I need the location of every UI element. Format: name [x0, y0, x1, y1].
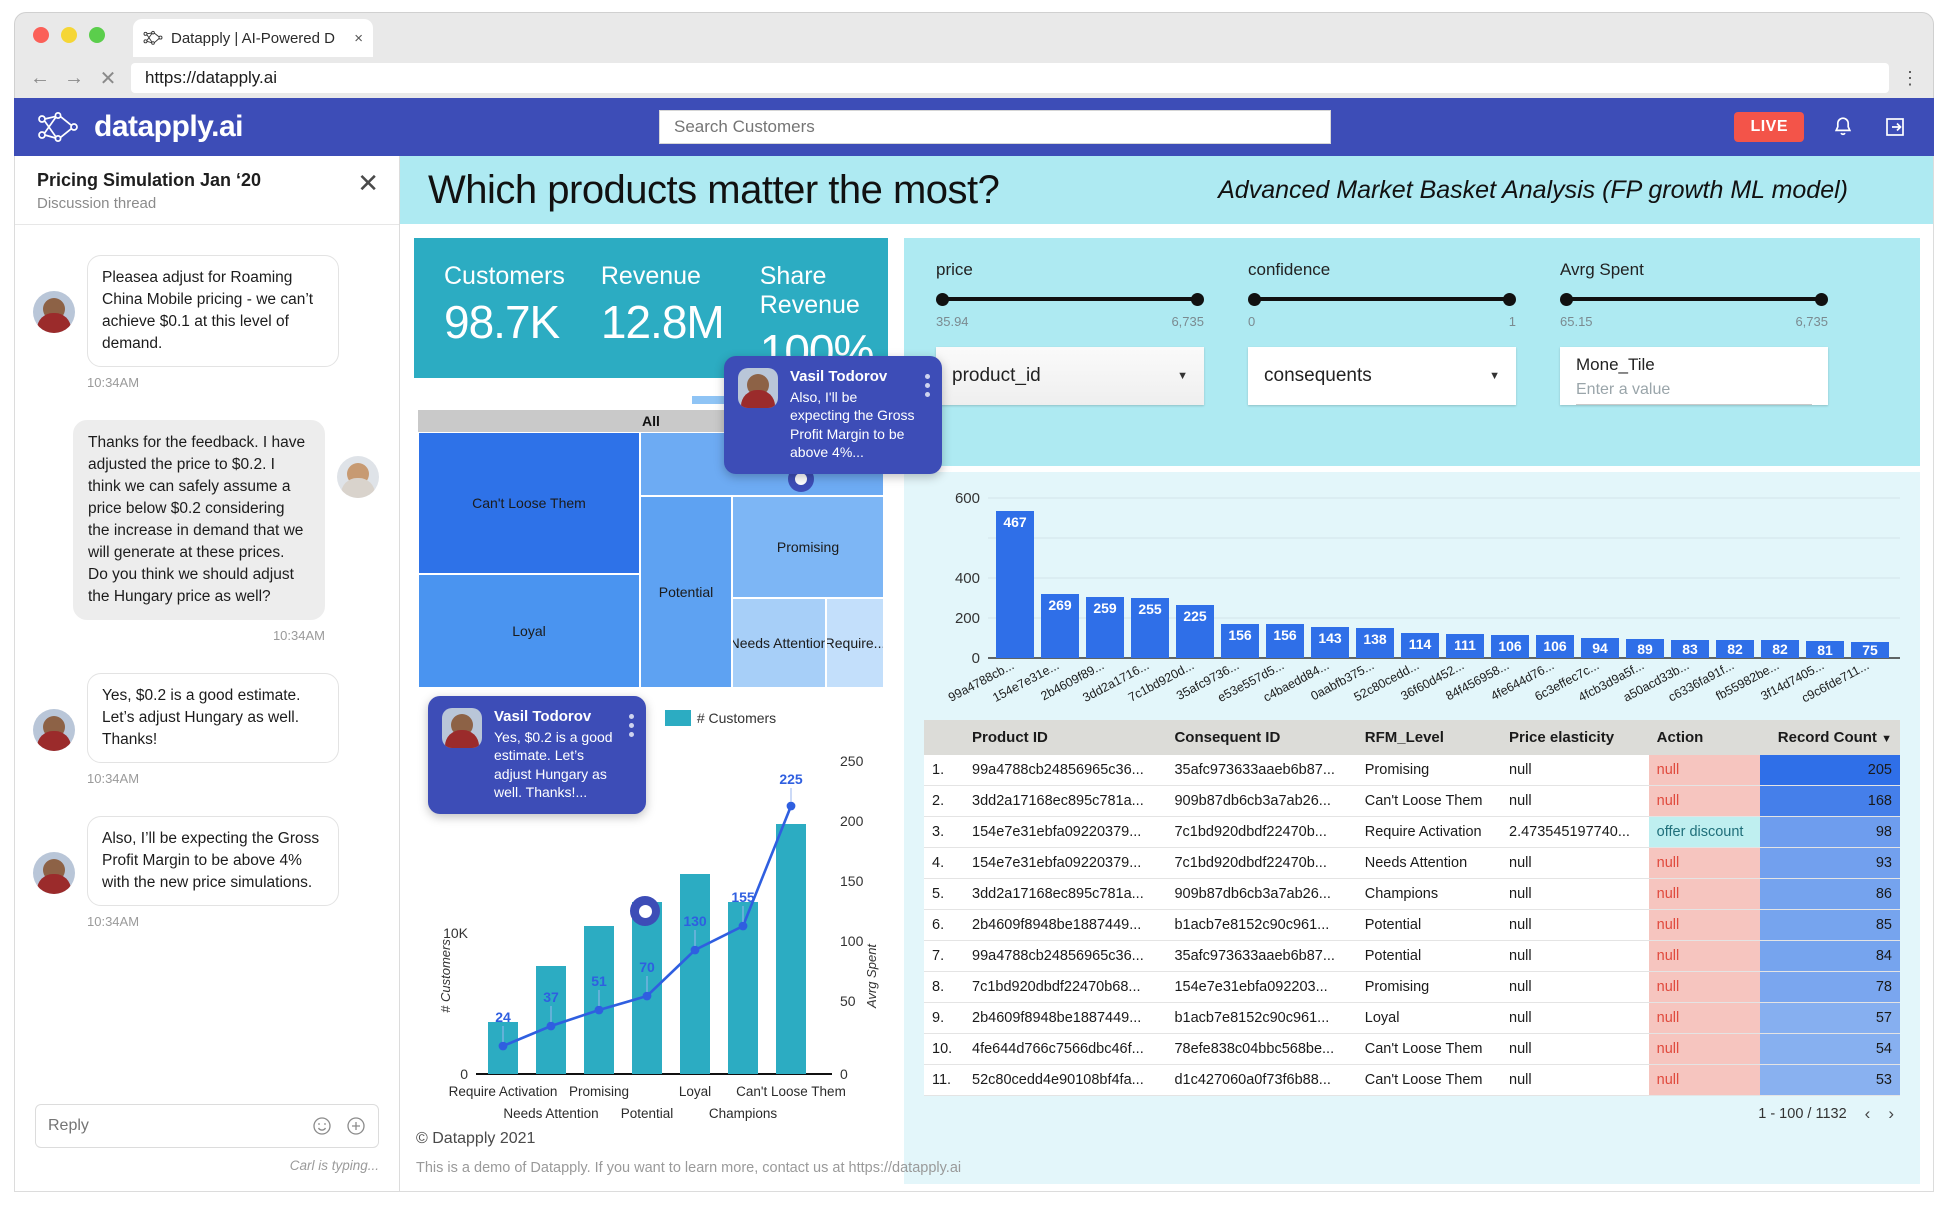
comment-author: Vasil Todorov [494, 708, 622, 725]
legend-swatch [665, 710, 691, 726]
cell-rfm-level: Require Activation [1357, 817, 1501, 848]
svg-text:255: 255 [1138, 601, 1162, 617]
comment-text: Also, I'll be expecting the Gross Profit… [790, 388, 918, 462]
svg-text:114: 114 [1409, 636, 1432, 652]
table-row[interactable]: 1.99a4788cb24856965c36...35afc973633aaeb… [924, 755, 1900, 786]
discussion-title: Pricing Simulation Jan ‘20 [37, 170, 381, 191]
avatar [738, 368, 778, 408]
message-item: Pleasea adjust for Roaming China Mobile … [33, 255, 379, 390]
svg-text:250: 250 [840, 753, 864, 769]
svg-text:Can't Loose Them: Can't Loose Them [736, 1084, 846, 1099]
cell-product-id: 99a4788cb24856965c36... [964, 755, 1166, 786]
cell-price-elasticity: null [1501, 848, 1649, 879]
svg-text:200: 200 [840, 813, 864, 829]
svg-text:143: 143 [1318, 630, 1342, 646]
svg-text:150: 150 [840, 873, 864, 889]
cell-product-id: 3dd2a17168ec895c781a... [964, 786, 1166, 817]
floating-comment-card-2[interactable]: Vasil Todorov Yes, $0.2 is a good estima… [428, 696, 646, 814]
browser-urlbar: ← → ✕ https://datapply.ai ⋮ [15, 57, 1933, 99]
cell-rfm-level: Champions [1357, 879, 1501, 910]
avatar [33, 291, 75, 333]
row-index: 5. [924, 879, 964, 910]
back-icon[interactable]: ← [29, 67, 51, 89]
treemap-tile-potential[interactable]: Potential [640, 496, 732, 688]
filter-avrg-spent: Avrg Spent 65.15 6,735 Mone_Tile Enter a… [1560, 260, 1828, 405]
discussion-panel: Pricing Simulation Jan ‘20 Discussion th… [14, 156, 400, 1192]
table-row[interactable]: 5.3dd2a17168ec895c781a...909b87db6cb3a7a… [924, 879, 1900, 910]
svg-text:82: 82 [1772, 641, 1788, 657]
svg-text:82: 82 [1727, 641, 1743, 657]
row-index: 6. [924, 910, 964, 941]
svg-text:0: 0 [460, 1066, 468, 1082]
cell-consequent-id: 154e7e31ebfa092203... [1166, 972, 1356, 1003]
svg-text:138: 138 [1363, 631, 1387, 647]
cell-consequent-id: 35afc973633aaeb6b87... [1166, 755, 1356, 786]
svg-text:225: 225 [779, 771, 803, 787]
cell-product-id: 2b4609f8948be1887449... [964, 910, 1166, 941]
row-index: 9. [924, 1003, 964, 1034]
cell-action: null [1649, 1065, 1760, 1096]
products-table: Product ID Consequent ID RFM_Level Price… [924, 720, 1900, 1124]
comment-author: Vasil Todorov [790, 368, 918, 385]
cell-price-elasticity: 2.473545197740... [1501, 817, 1649, 848]
table-row[interactable]: 2.3dd2a17168ec895c781a...909b87db6cb3a7a… [924, 786, 1900, 817]
typing-indicator: Carl is typing... [35, 1158, 379, 1173]
table-row[interactable]: 8.7c1bd920dbdf22470b68...154e7e31ebfa092… [924, 972, 1900, 1003]
chevron-down-icon: ▼ [1489, 370, 1500, 382]
svg-text:106: 106 [1498, 638, 1522, 654]
search-input[interactable] [674, 117, 1316, 137]
avatar [337, 456, 379, 498]
cell-record-count: 86 [1760, 879, 1900, 910]
svg-text:155: 155 [731, 889, 755, 905]
row-index: 11. [924, 1065, 964, 1096]
svg-text:81: 81 [1817, 642, 1833, 658]
table-row[interactable]: 10.4fe644d766c7566dbc46f...78efe838c04bb… [924, 1034, 1900, 1065]
cell-action: null [1649, 910, 1760, 941]
search-box[interactable] [659, 110, 1331, 144]
cell-rfm-level: Can't Loose Them [1357, 786, 1501, 817]
datapply-logo-icon [36, 111, 80, 143]
message-time: 10:34AM [87, 771, 339, 786]
comment-options-icon[interactable] [925, 374, 930, 397]
svg-text:0: 0 [972, 650, 980, 667]
message-item: Thanks for the feedback. I have adjusted… [33, 420, 379, 643]
cell-product-id: 52c80cedd4e90108bf4fa... [964, 1065, 1166, 1096]
svg-text:83: 83 [1682, 641, 1698, 657]
cell-record-count: 98 [1760, 817, 1900, 848]
browser-menu-icon[interactable]: ⋮ [1901, 68, 1919, 89]
filter-label: confidence [1248, 260, 1516, 280]
app-header: datapply.ai LIVE [14, 98, 1934, 156]
mone-tile-field[interactable]: Mone_Tile Enter a value [1560, 347, 1828, 405]
browser-tabstrip: Datapply | AI-Powered D × [15, 13, 1933, 57]
svg-text:Require Activation: Require Activation [449, 1084, 558, 1099]
message-text: Also, I’ll be expecting the Gross Profit… [87, 816, 339, 906]
row-index: 3. [924, 817, 964, 848]
svg-text:Loyal: Loyal [679, 1084, 711, 1099]
cell-action: null [1649, 879, 1760, 910]
svg-text:Avrg Spent: Avrg Spent [864, 943, 879, 1009]
cell-consequent-id: d1c427060a0f73f6b88... [1166, 1065, 1356, 1096]
chevron-down-icon: ▼ [1177, 370, 1188, 382]
svg-text:225: 225 [1183, 608, 1207, 624]
svg-text:50: 50 [840, 993, 856, 1009]
table-row[interactable]: 4.154e7e31ebfa09220379...7c1bd920dbdf224… [924, 848, 1900, 879]
cell-price-elasticity: null [1501, 1003, 1649, 1034]
product-id-select[interactable]: product_id ▼ [936, 347, 1204, 405]
slider-max: 1 [1509, 314, 1516, 329]
cell-product-id: 3dd2a17168ec895c781a... [964, 879, 1166, 910]
kpi-value: 98.7K [444, 295, 565, 349]
cell-product-id: 154e7e31ebfa09220379... [964, 817, 1166, 848]
col-price-elasticity[interactable]: Price elasticity [1501, 720, 1649, 755]
products-panel: 600 400 200 0 [904, 472, 1920, 1184]
filter-confidence: confidence 0 1 consequents ▼ [1248, 260, 1516, 405]
cell-product-id: 7c1bd920dbdf22470b68... [964, 972, 1166, 1003]
browser-tab[interactable]: Datapply | AI-Powered D × [133, 19, 373, 57]
brand-name: datapply.ai [94, 110, 243, 144]
cell-record-count: 54 [1760, 1034, 1900, 1065]
comment-pin-combo-chart[interactable] [630, 896, 660, 926]
slider-min: 65.15 [1560, 314, 1593, 329]
confidence-slider[interactable] [1248, 292, 1516, 306]
browser-tab-title: Datapply | AI-Powered D [171, 30, 335, 47]
svg-text:156: 156 [1273, 627, 1297, 643]
field-placeholder[interactable]: Enter a value [1576, 381, 1812, 405]
message-item: Yes, $0.2 is a good estimate. Let’s adju… [33, 673, 379, 786]
row-index: 4. [924, 848, 964, 879]
legend-label: # Customers [697, 710, 776, 726]
avatar [442, 708, 482, 748]
price-slider[interactable] [936, 292, 1204, 306]
page-footer: © Datapply 2021 This is a demo of Datapp… [400, 1118, 1934, 1176]
svg-text:Promising: Promising [569, 1084, 629, 1099]
svg-text:130: 130 [683, 913, 707, 929]
cell-price-elasticity: null [1501, 1065, 1649, 1096]
svg-text:10K: 10K [443, 925, 469, 941]
svg-text:100: 100 [840, 933, 864, 949]
footer-note: This is a demo of Datapply. If you want … [416, 1160, 1934, 1176]
svg-text:467: 467 [1003, 514, 1027, 530]
page-subtitle: Advanced Market Basket Analysis (FP grow… [1218, 176, 1848, 205]
reply-input[interactable] [48, 1117, 298, 1135]
treemap-tile-needs-attention[interactable]: Needs Attention [732, 598, 826, 688]
close-window-dot[interactable] [33, 27, 49, 43]
svg-text:70: 70 [639, 959, 655, 975]
cell-consequent-id: 7c1bd920dbdf22470b... [1166, 817, 1356, 848]
svg-text:75: 75 [1862, 642, 1878, 658]
cell-consequent-id: 7c1bd920dbdf22470b... [1166, 848, 1356, 879]
cell-product-id: 2b4609f8948be1887449... [964, 1003, 1166, 1034]
cell-price-elasticity: null [1501, 910, 1649, 941]
page-title: Which products matter the most? [428, 168, 999, 213]
message-time: 10:34AM [87, 375, 339, 390]
cell-consequent-id: 78efe838c04bbc568be... [1166, 1034, 1356, 1065]
kpi-label: Customers [444, 262, 565, 291]
cell-rfm-level: Can't Loose Them [1357, 1034, 1501, 1065]
message-text: Yes, $0.2 is a good estimate. Let’s adju… [87, 673, 339, 763]
consequents-select[interactable]: consequents ▼ [1248, 347, 1516, 405]
cell-record-count: 205 [1760, 755, 1900, 786]
slider-max: 6,735 [1795, 314, 1828, 329]
row-index: 8. [924, 972, 964, 1003]
cell-rfm-level: Loyal [1357, 1003, 1501, 1034]
filter-label: Avrg Spent [1560, 260, 1828, 280]
url-input[interactable]: https://datapply.ai [131, 63, 1889, 93]
cell-action: null [1649, 848, 1760, 879]
reply-box[interactable] [35, 1104, 379, 1148]
cell-rfm-level: Needs Attention [1357, 848, 1501, 879]
avatar [33, 852, 75, 894]
svg-text:259: 259 [1093, 600, 1117, 616]
cell-price-elasticity: null [1501, 879, 1649, 910]
cell-rfm-level: Potential [1357, 910, 1501, 941]
close-tab-icon[interactable]: × [354, 30, 363, 47]
browser-chrome: Datapply | AI-Powered D × ← → ✕ https://… [14, 12, 1934, 98]
col-index [924, 720, 964, 755]
cell-rfm-level: Potential [1357, 941, 1501, 972]
cell-record-count: 84 [1760, 941, 1900, 972]
message-text: Thanks for the feedback. I have adjusted… [73, 420, 325, 620]
row-index: 1. [924, 755, 964, 786]
treemap-tile-cant-loose-them[interactable]: Can't Loose Them [418, 432, 640, 574]
avatar [33, 709, 75, 751]
app-header-actions: LIVE [1734, 98, 1908, 156]
window-controls[interactable] [33, 27, 105, 43]
cell-product-id: 4fe644d766c7566dbc46f... [964, 1034, 1166, 1065]
filters-panel: price 35.94 6,735 product_id ▼ confidenc… [904, 238, 1920, 466]
select-value: consequents [1264, 365, 1372, 387]
message-list: Pleasea adjust for Roaming China Mobile … [15, 225, 399, 1088]
svg-text:200: 200 [955, 610, 980, 627]
cell-price-elasticity: null [1501, 786, 1649, 817]
message-time: 10:34AM [73, 628, 325, 643]
discussion-subtitle: Discussion thread [37, 195, 381, 212]
row-index: 7. [924, 941, 964, 972]
col-record-count[interactable]: Record Count ▼ [1760, 720, 1900, 755]
kpi-revenue: Revenue 12.8M [601, 262, 724, 378]
stop-icon[interactable]: ✕ [97, 67, 119, 89]
cell-price-elasticity: null [1501, 1034, 1649, 1065]
kpi-value: 12.8M [601, 295, 724, 349]
emoji-icon[interactable] [312, 1116, 332, 1136]
cell-record-count: 93 [1760, 848, 1900, 879]
treemap-tile-require-activation[interactable]: Require... [826, 598, 884, 688]
floating-comment-card-1[interactable]: Vasil Todorov Also, I'll be expecting th… [724, 356, 942, 474]
svg-text:0: 0 [840, 1066, 848, 1082]
kpi-label: Revenue [601, 262, 724, 291]
slider-min: 35.94 [936, 314, 969, 329]
cell-consequent-id: 909b87db6cb3a7ab26... [1166, 879, 1356, 910]
sort-descending-icon[interactable]: ▼ [1881, 733, 1892, 745]
datapply-favicon [143, 30, 163, 46]
filter-label: price [936, 260, 1204, 280]
row-index: 10. [924, 1034, 964, 1065]
cell-product-id: 154e7e31ebfa09220379... [964, 848, 1166, 879]
cell-product-id: 99a4788cb24856965c36... [964, 941, 1166, 972]
url-text: https://datapply.ai [145, 68, 277, 88]
col-rfm-level[interactable]: RFM_Level [1357, 720, 1501, 755]
cell-record-count: 53 [1760, 1065, 1900, 1096]
kpi-customers: Customers 98.7K [444, 262, 565, 378]
cell-price-elasticity: null [1501, 972, 1649, 1003]
treemap-tile-promising[interactable]: Promising [732, 496, 884, 598]
cell-action: null [1649, 1034, 1760, 1065]
svg-text:269: 269 [1048, 597, 1072, 613]
slider-max: 6,735 [1171, 314, 1204, 329]
cell-price-elasticity: null [1501, 941, 1649, 972]
app-page: Datapply | AI-Powered D × ← → ✕ https://… [0, 0, 1948, 1206]
svg-text:111: 111 [1454, 637, 1476, 653]
svg-text:51: 51 [591, 973, 607, 989]
copyright-text: © Datapply 2021 [416, 1130, 1934, 1148]
col-product-id[interactable]: Product ID [964, 720, 1166, 755]
cell-action: null [1649, 972, 1760, 1003]
discussion-header: Pricing Simulation Jan ‘20 Discussion th… [15, 156, 399, 225]
dashboard: Which products matter the most? Advanced… [400, 156, 1934, 1192]
table-body: 1.99a4788cb24856965c36...35afc973633aaeb… [924, 755, 1900, 1096]
cell-rfm-level: Promising [1357, 972, 1501, 1003]
svg-text:37: 37 [543, 989, 559, 1005]
message-item: Also, I’ll be expecting the Gross Profit… [33, 816, 379, 929]
close-discussion-icon[interactable]: ✕ [357, 170, 379, 196]
cell-record-count: 78 [1760, 972, 1900, 1003]
forward-icon[interactable]: → [63, 67, 85, 89]
svg-text:89: 89 [1637, 641, 1653, 657]
cell-action: null [1649, 755, 1760, 786]
cell-rfm-level: Can't Loose Them [1357, 1065, 1501, 1096]
dashboard-banner: Which products matter the most? Advanced… [400, 156, 1934, 224]
treemap-tile-loyal[interactable]: Loyal [418, 574, 640, 688]
cell-record-count: 168 [1760, 786, 1900, 817]
svg-text:156: 156 [1228, 627, 1252, 643]
cell-consequent-id: 35afc973633aaeb6b87... [1166, 941, 1356, 972]
svg-text:400: 400 [955, 570, 980, 587]
cell-action: null [1649, 1003, 1760, 1034]
svg-text:106: 106 [1543, 638, 1567, 654]
add-attachment-icon[interactable] [346, 1116, 366, 1136]
svg-text:24: 24 [495, 1009, 511, 1025]
table-row[interactable]: 11.52c80cedd4e90108bf4fa...d1c427060a0f7… [924, 1065, 1900, 1096]
cell-record-count: 57 [1760, 1003, 1900, 1034]
filter-price: price 35.94 6,735 product_id ▼ [936, 260, 1204, 405]
svg-text:94: 94 [1592, 640, 1608, 656]
logout-icon[interactable] [1882, 114, 1908, 140]
cell-action: null [1649, 941, 1760, 972]
table-header-row: Product ID Consequent ID RFM_Level Price… [924, 720, 1900, 755]
maximize-window-dot[interactable] [89, 27, 105, 43]
cell-consequent-id: b1acb7e8152c90c961... [1166, 910, 1356, 941]
cell-record-count: 85 [1760, 910, 1900, 941]
field-label: Mone_Tile [1576, 355, 1812, 375]
row-index: 2. [924, 786, 964, 817]
cell-action: null [1649, 786, 1760, 817]
comment-text: Yes, $0.2 is a good estimate. Let’s adju… [494, 728, 622, 802]
table-row[interactable]: 9.2b4609f8948be1887449...b1acb7e8152c90c… [924, 1003, 1900, 1034]
comment-options-icon[interactable] [629, 714, 634, 737]
slider-min: 0 [1248, 314, 1255, 329]
cell-action: offer discount [1649, 817, 1760, 848]
product-record-count-bar-chart: 600 400 200 0 [904, 472, 1920, 712]
cell-rfm-level: Promising [1357, 755, 1501, 786]
kpi-label: Share Revenue [760, 262, 874, 320]
live-badge[interactable]: LIVE [1734, 112, 1804, 142]
avrg-spent-slider[interactable] [1560, 292, 1828, 306]
table-row[interactable]: 3.154e7e31ebfa09220379...7c1bd920dbdf224… [924, 817, 1900, 848]
table-row[interactable]: 7.99a4788cb24856965c36...35afc973633aaeb… [924, 941, 1900, 972]
cell-consequent-id: b1acb7e8152c90c961... [1166, 1003, 1356, 1034]
table-row[interactable]: 6.2b4609f8948be1887449...b1acb7e8152c90c… [924, 910, 1900, 941]
minimize-window-dot[interactable] [61, 27, 77, 43]
cell-consequent-id: 909b87db6cb3a7ab26... [1166, 786, 1356, 817]
svg-text:600: 600 [955, 490, 980, 507]
legend-customers[interactable]: # Customers [665, 710, 776, 726]
brand[interactable]: datapply.ai [36, 110, 243, 144]
col-consequent-id[interactable]: Consequent ID [1166, 720, 1356, 755]
svg-text:# Customers: # Customers [438, 939, 453, 1013]
message-time: 10:34AM [87, 914, 339, 929]
col-action[interactable]: Action [1649, 720, 1760, 755]
cell-price-elasticity: null [1501, 755, 1649, 786]
message-text: Pleasea adjust for Roaming China Mobile … [87, 255, 339, 367]
select-value: product_id [952, 365, 1041, 387]
notifications-bell-icon[interactable] [1830, 114, 1856, 140]
discussion-footer: Carl is typing... [15, 1088, 399, 1191]
